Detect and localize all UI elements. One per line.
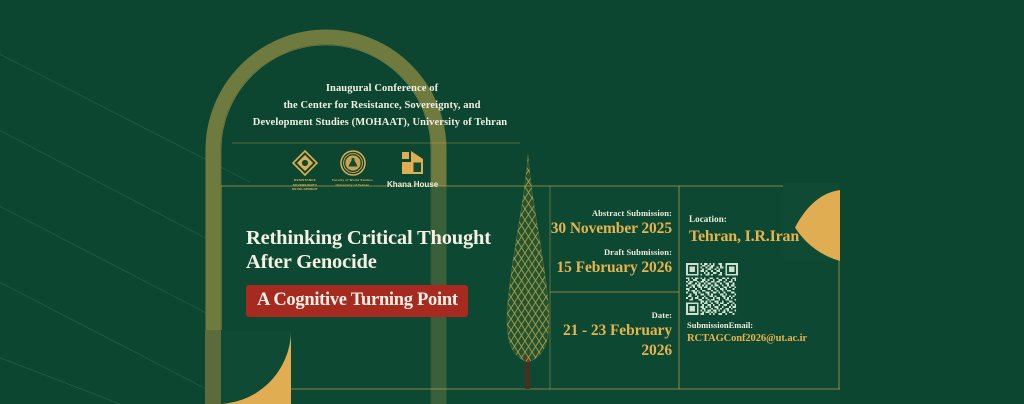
logo-row: RESISTANCESOVEREIGNTYDEVELOPMENT Faculty… — [292, 150, 438, 192]
logo-university: Faculty of World StudiesUniversity of Te… — [332, 150, 373, 187]
arch-foot-shadow — [205, 330, 221, 404]
logo-khana-house: Khana House — [387, 150, 438, 191]
contact-block: SubmissionEmail: RCTAGConf2026@ut.ac.ir — [687, 320, 807, 344]
subtitle-banner: A Cognitive Turning Point — [246, 285, 468, 317]
title-line-1: Rethinking Critical Thought — [246, 226, 496, 250]
title-line-2: After Genocide — [246, 250, 496, 274]
submission-email-value[interactable]: RCTAGConf2026@ut.ac.ir — [687, 333, 807, 344]
logo-khana-caption: Khana House — [387, 179, 438, 191]
event-date-block: Date: 21 - 23 February 2026 — [520, 310, 672, 361]
conference-header: Inaugural Conference of the Center for R… — [232, 80, 532, 131]
logo-mohaat-caption: RESISTANCESOVEREIGNTYDEVELOPMENT — [292, 178, 318, 192]
event-date-label: Date: — [520, 310, 672, 321]
event-date-value-line-1: 21 - 23 February — [520, 321, 672, 341]
header-line-1: Inaugural Conference of — [232, 80, 532, 97]
location-label: Location: — [689, 214, 799, 224]
location-block: Location: Tehran, I.R.Iran — [689, 214, 799, 246]
khana-house-icon — [399, 150, 426, 176]
submission-email-label: SubmissionEmail: — [687, 320, 807, 330]
qr-code-icon[interactable] — [686, 263, 738, 315]
draft-deadline-label: Draft Submission: — [520, 247, 672, 258]
header-line-2: the Center for Resistance, Sovereignty, … — [232, 97, 532, 114]
deadlines-block: Abstract Submission: 30 November 2025 Dr… — [520, 208, 672, 278]
subtitle-text: A Cognitive Turning Point — [257, 290, 458, 310]
event-date-value-line-2: 2026 — [520, 341, 672, 361]
title-block: Rethinking Critical Thought After Genoci… — [246, 226, 496, 317]
abstract-deadline-value: 30 November 2025 — [520, 219, 672, 239]
abstract-deadline-label: Abstract Submission: — [520, 208, 672, 219]
logo-university-caption: Faculty of World StudiesUniversity of Te… — [332, 178, 373, 187]
poster-artwork — [0, 0, 1024, 404]
university-seal-icon — [340, 150, 366, 176]
header-line-3: Development Studies (MOHAAT), University… — [228, 114, 532, 131]
diamond-emblem-icon — [292, 150, 318, 176]
logo-mohaat: RESISTANCESOVEREIGNTYDEVELOPMENT — [292, 150, 318, 192]
location-value: Tehran, I.R.Iran — [689, 228, 799, 246]
draft-deadline-value: 15 February 2026 — [520, 258, 672, 278]
conference-poster: Inaugural Conference of the Center for R… — [0, 0, 1024, 404]
